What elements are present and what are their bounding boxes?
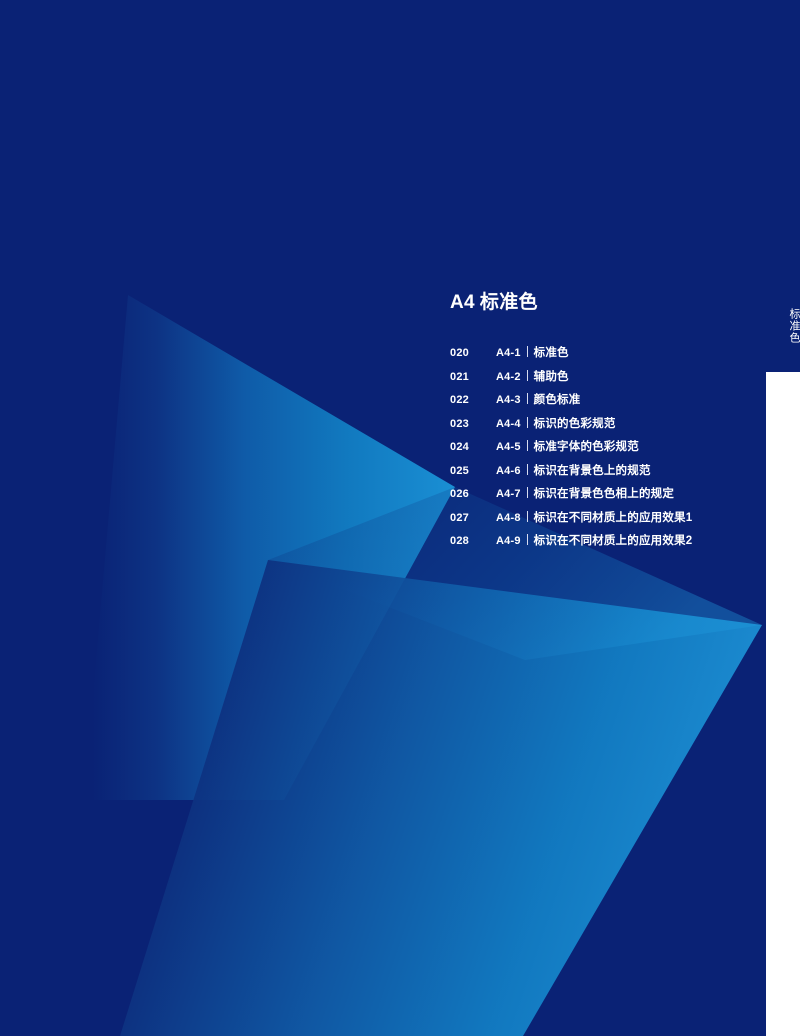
toc-separator-icon xyxy=(527,393,528,404)
toc-separator-icon xyxy=(527,370,528,381)
toc-row[interactable]: 025 A4-6 标识在背景色上的规范 xyxy=(450,462,750,486)
toc-row[interactable]: 021 A4-2 辅助色 xyxy=(450,368,750,392)
toc-list: 020 A4-1 标准色 021 A4-2 辅助色 022 A4-3 颜色标准 … xyxy=(450,344,750,556)
page-title-code: A4 xyxy=(450,292,475,313)
toc-row[interactable]: 026 A4-7 标识在背景色色相上的规定 xyxy=(450,485,750,509)
toc-page-number: 023 xyxy=(450,418,496,430)
toc-item-label: 标识在背景色色相上的规定 xyxy=(534,485,674,501)
toc-section-code: A4-7 xyxy=(496,488,521,500)
toc-page-number: 022 xyxy=(450,394,496,406)
toc-item-label: 标准字体的色彩规范 xyxy=(534,438,639,454)
toc-section-code: A4-6 xyxy=(496,465,521,477)
toc-item-label: 颜色标准 xyxy=(534,391,581,407)
toc-page-number: 024 xyxy=(450,441,496,453)
toc-separator-icon xyxy=(527,440,528,451)
toc-separator-icon xyxy=(527,346,528,357)
page-title: A4标准色 xyxy=(450,290,750,316)
toc-section-code: A4-3 xyxy=(496,394,521,406)
toc-separator-icon xyxy=(527,417,528,428)
side-tab-label: 标准色 xyxy=(766,288,800,364)
toc-item-label: 标识的色彩规范 xyxy=(534,415,616,431)
cover-page: 标准色 A4标准色 020 A4-1 标准色 021 A4-2 辅助色 022 … xyxy=(0,0,800,1036)
toc-item-label: 标识在背景色上的规范 xyxy=(534,462,651,478)
toc-row[interactable]: 027 A4-8 标识在不同材质上的应用效果1 xyxy=(450,509,750,533)
toc-row[interactable]: 020 A4-1 标准色 xyxy=(450,344,750,368)
toc-section-code: A4-4 xyxy=(496,418,521,430)
toc-item-label: 标准色 xyxy=(534,344,569,360)
toc-section-code: A4-1 xyxy=(496,347,521,359)
toc-item-label: 标识在不同材质上的应用效果2 xyxy=(534,532,693,548)
white-page-margin xyxy=(766,372,800,1036)
content-column: A4标准色 020 A4-1 标准色 021 A4-2 辅助色 022 A4-3… xyxy=(450,290,750,556)
toc-separator-icon xyxy=(527,464,528,475)
toc-section-code: A4-5 xyxy=(496,441,521,453)
page-title-text: 标准色 xyxy=(480,292,538,313)
toc-page-number: 020 xyxy=(450,347,496,359)
toc-page-number: 025 xyxy=(450,465,496,477)
toc-row[interactable]: 024 A4-5 标准字体的色彩规范 xyxy=(450,438,750,462)
toc-row[interactable]: 023 A4-4 标识的色彩规范 xyxy=(450,415,750,439)
toc-row[interactable]: 028 A4-9 标识在不同材质上的应用效果2 xyxy=(450,532,750,556)
toc-page-number: 028 xyxy=(450,535,496,547)
toc-row[interactable]: 022 A4-3 颜色标准 xyxy=(450,391,750,415)
toc-separator-icon xyxy=(527,487,528,498)
toc-item-label: 标识在不同材质上的应用效果1 xyxy=(534,509,693,525)
toc-separator-icon xyxy=(527,511,528,522)
toc-section-code: A4-9 xyxy=(496,535,521,547)
toc-page-number: 027 xyxy=(450,512,496,524)
toc-page-number: 026 xyxy=(450,488,496,500)
toc-section-code: A4-2 xyxy=(496,371,521,383)
toc-separator-icon xyxy=(527,534,528,545)
toc-page-number: 021 xyxy=(450,371,496,383)
toc-section-code: A4-8 xyxy=(496,512,521,524)
toc-item-label: 辅助色 xyxy=(534,368,569,384)
